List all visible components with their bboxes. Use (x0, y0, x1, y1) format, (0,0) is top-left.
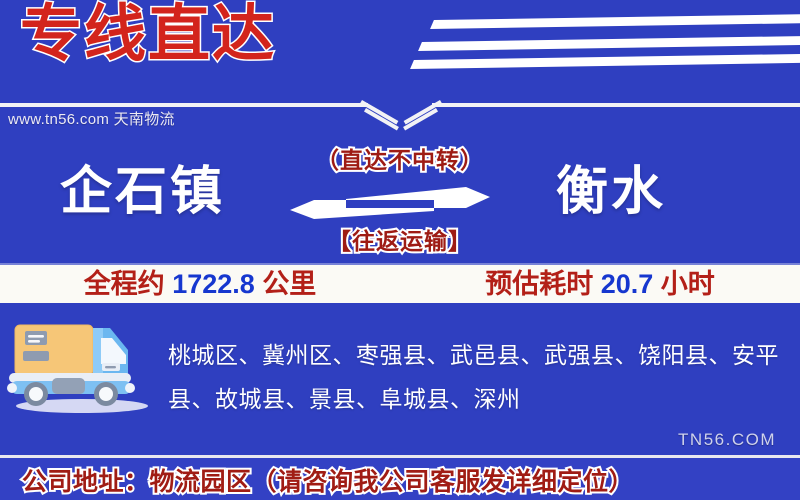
company-address-label: 公司地址：物流园区（请咨询我公司客服发详细定位） (22, 462, 634, 498)
site-url-label: www.tn56.com 天南物流 (8, 108, 175, 129)
duration-prefix: 预估耗时 (485, 269, 593, 299)
duration-metric: 预估耗时 20.7 小时 (400, 268, 800, 300)
distance-value: 1722.8 (172, 269, 255, 299)
watermark-label: TN56.COM (678, 430, 776, 450)
distance-unit: 公里 (262, 269, 316, 299)
delivery-truck-icon (6, 318, 158, 418)
speed-stripe-icon (430, 14, 800, 29)
page-title: 专线直达 (20, 4, 276, 66)
direct-service-tag: （直达不中转） (0, 141, 800, 175)
logistics-route-poster: 专线直达 www.tn56.com 天南物流 企石镇 衡水 （直达不中转） 【往… (0, 0, 800, 500)
header-divider-right (432, 103, 800, 107)
distance-prefix: 全程约 (84, 269, 165, 299)
duration-value: 20.7 (601, 269, 654, 299)
round-trip-tag: 【往返运输】 (0, 222, 800, 256)
double-arrow-icon (290, 183, 490, 223)
covered-districts-list: 桃城区、冀州区、枣强县、武邑县、武强县、饶阳县、安平县、故城县、景县、阜城县、深… (168, 333, 788, 421)
chevron-down-icon (368, 108, 434, 132)
distance-metric: 全程约 1722.8 公里 (0, 268, 400, 300)
speed-stripe-icon (410, 54, 800, 69)
duration-unit: 小时 (661, 269, 715, 299)
header-divider-left (0, 103, 368, 107)
speed-stripe-icon (418, 36, 800, 51)
